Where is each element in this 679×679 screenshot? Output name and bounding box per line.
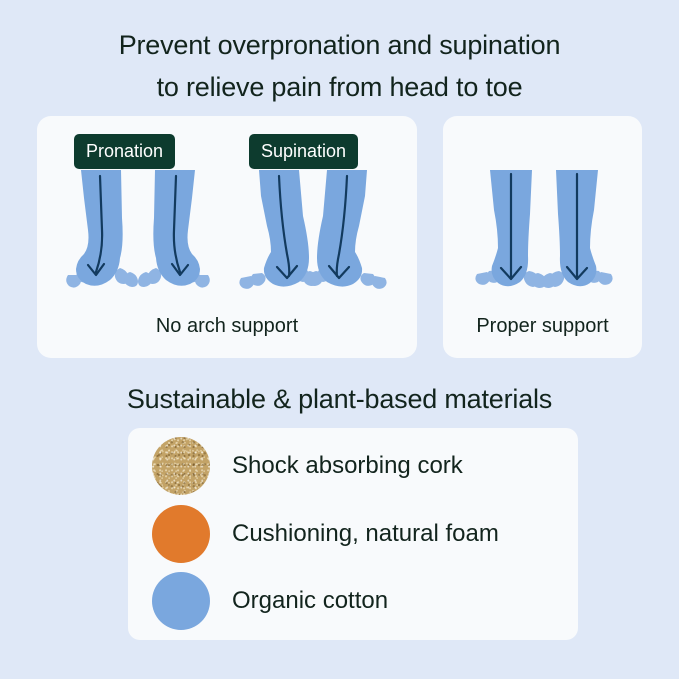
page-headline: Prevent overpronation and supination to … (0, 24, 679, 108)
cotton-swatch-icon (152, 572, 210, 630)
material-label: Shock absorbing cork (232, 451, 463, 481)
pronation-badge: Pronation (74, 134, 175, 169)
pronation-right-leg (138, 170, 210, 288)
proper-support-legs-svg (474, 168, 614, 300)
material-label: Cushioning, natural foam (232, 519, 499, 549)
supination-badge: Supination (249, 134, 358, 169)
foam-swatch-icon (152, 505, 210, 563)
supination-right-leg (308, 170, 387, 289)
no-arch-support-caption: No arch support (37, 313, 417, 339)
proper-right-leg (542, 170, 613, 288)
materials-section-heading: Sustainable & plant-based materials (0, 381, 679, 417)
cork-swatch-icon (152, 437, 210, 495)
material-list-item: Shock absorbing cork (152, 437, 463, 495)
material-label: Organic cotton (232, 586, 388, 616)
proper-support-caption: Proper support (443, 313, 642, 339)
supination-legs-illustration (237, 168, 389, 305)
supination-left-leg (239, 170, 318, 289)
headline-line-2: to relieve pain from head to toe (0, 66, 679, 108)
pronation-legs-svg (62, 168, 214, 300)
material-list-item: Cushioning, natural foam (152, 505, 499, 563)
pronation-left-leg (66, 170, 138, 288)
pronation-legs-illustration (62, 168, 214, 305)
proper-left-leg (475, 170, 546, 288)
headline-line-1: Prevent overpronation and supination (0, 24, 679, 66)
material-list-item: Organic cotton (152, 572, 388, 630)
proper-support-legs-illustration (474, 168, 614, 305)
supination-legs-svg (237, 168, 389, 300)
